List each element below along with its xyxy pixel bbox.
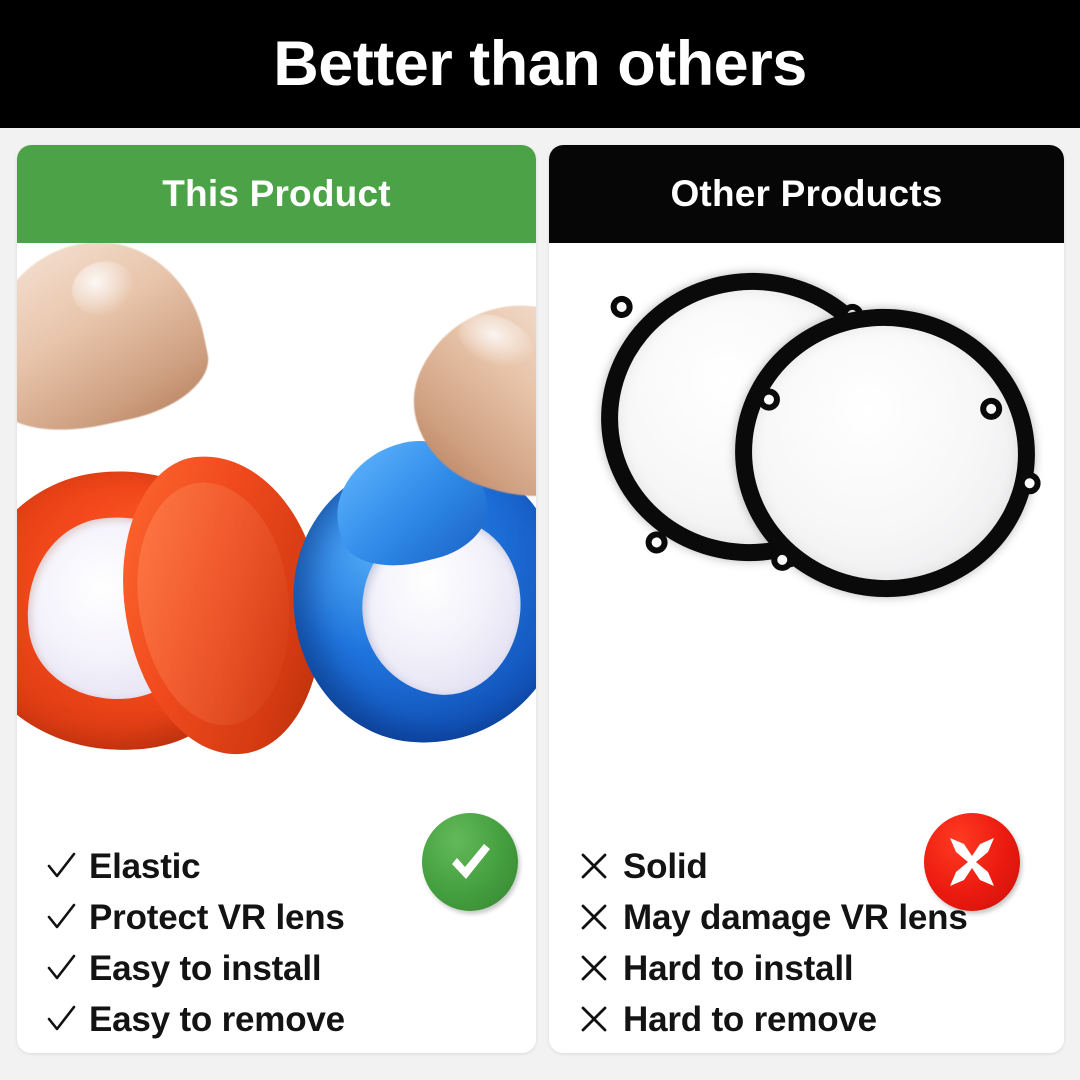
cross-mark-icon: [579, 902, 623, 932]
list-item: Easy to remove: [45, 994, 525, 1044]
feature-label: Hard to install: [623, 951, 853, 986]
comparison-infographic: Better than others This Product: [0, 0, 1080, 1080]
list-item: May damage VR lens: [579, 892, 1059, 942]
check-mark-icon: [45, 901, 89, 933]
other-products-photo: [549, 243, 1064, 833]
page-title-bar: Better than others: [0, 0, 1080, 128]
feature-label: Elastic: [89, 849, 200, 884]
page-title: Better than others: [273, 33, 807, 96]
ring-tab-icon: [609, 295, 634, 320]
other-products-feature-list: Solid May damage VR lens: [579, 841, 1059, 1045]
this-product-header: This Product: [17, 145, 536, 243]
list-item: Hard to remove: [579, 994, 1059, 1044]
finger-pressing-orange-ring: [17, 243, 218, 445]
cross-mark-icon: [579, 851, 623, 881]
list-item: Solid: [579, 841, 1059, 891]
check-mark-icon: [45, 850, 89, 882]
check-mark-icon: [45, 1003, 89, 1035]
this-product-photo: [17, 243, 536, 833]
other-products-header: Other Products: [549, 145, 1064, 243]
list-item: Elastic: [45, 841, 525, 891]
check-mark-icon: [45, 952, 89, 984]
other-products-card: Other Products: [549, 145, 1064, 1053]
this-product-header-label: This Product: [162, 173, 391, 215]
cross-mark-icon: [579, 953, 623, 983]
other-products-body: Solid May damage VR lens: [549, 243, 1064, 1053]
feature-label: Easy to remove: [89, 1002, 345, 1037]
list-item: Protect VR lens: [45, 892, 525, 942]
this-product-card: This Product: [17, 145, 536, 1053]
cross-mark-icon: [579, 1004, 623, 1034]
feature-label: Hard to remove: [623, 1002, 877, 1037]
feature-label: Easy to install: [89, 951, 321, 986]
feature-label: Protect VR lens: [89, 900, 345, 935]
feature-label: May damage VR lens: [623, 900, 968, 935]
this-product-body: Elastic Protect VR lens: [17, 243, 536, 1053]
feature-label: Solid: [623, 849, 708, 884]
this-product-feature-list: Elastic Protect VR lens: [45, 841, 525, 1045]
other-products-header-label: Other Products: [670, 173, 942, 215]
list-item: Hard to install: [579, 943, 1059, 993]
list-item: Easy to install: [45, 943, 525, 993]
